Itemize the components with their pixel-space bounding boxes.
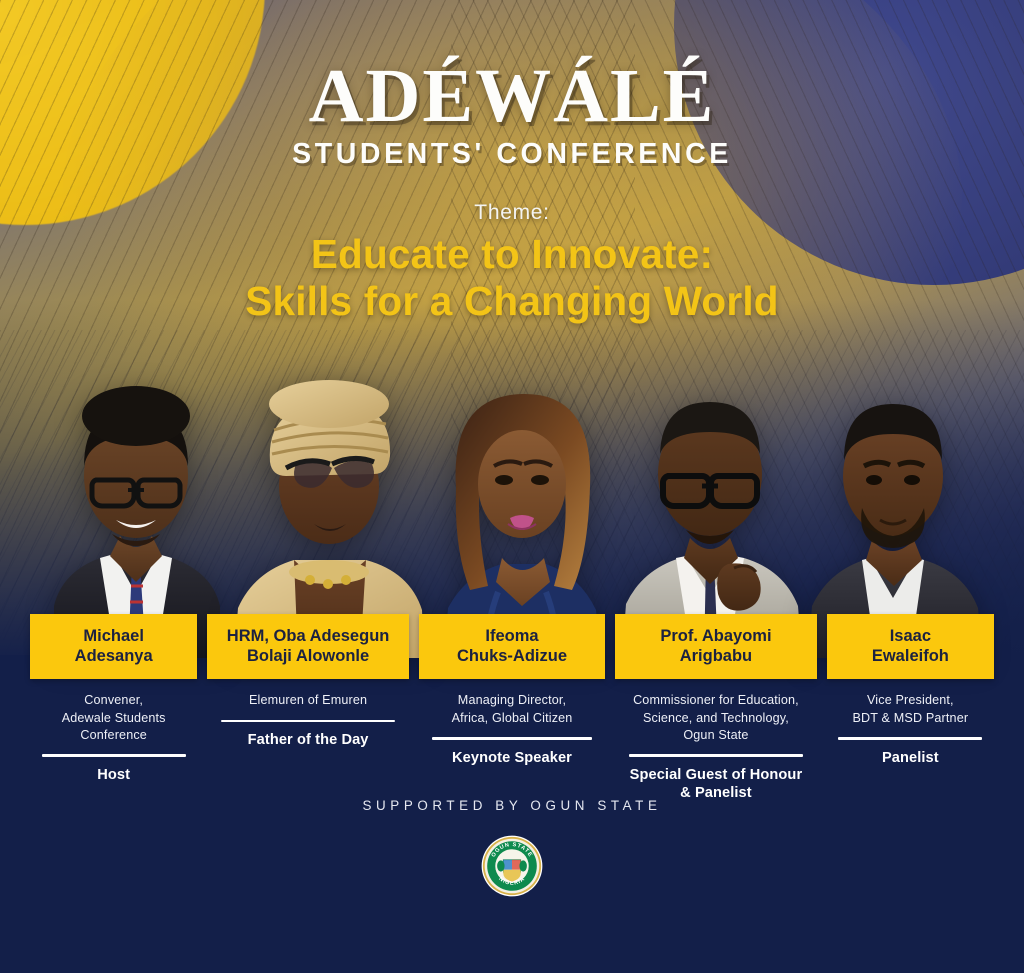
speaker-card-1: Michael Adesanya Convener, Adewale Stude…	[30, 614, 197, 784]
speaker-details-2: Elemuren of Emuren Father of the Day	[207, 679, 409, 749]
speaker-tag-line1-4: Special Guest of Honour	[615, 766, 817, 784]
divider-rule-5	[838, 737, 982, 740]
speaker-name-line1-2: HRM, Oba Adesegun	[227, 627, 390, 645]
theme-line-1: Educate to Innovate:	[0, 231, 1024, 278]
speaker-tag-4: Special Guest of Honour & Panelist	[615, 766, 817, 802]
speaker-tag-3: Keynote Speaker	[419, 749, 605, 767]
speaker-cards: Michael Adesanya Convener, Adewale Stude…	[0, 614, 1024, 802]
portrait-isaac-ewaleifoh	[798, 358, 988, 658]
speaker-card-2: HRM, Oba Adesegun Bolaji Alowonle Elemur…	[207, 614, 409, 749]
speaker-name-line1-4: Prof. Abayomi	[660, 627, 771, 645]
speaker-role-3: Managing Director, Africa, Global Citize…	[419, 692, 605, 727]
speaker-card-3: Ifeoma Chuks-Adizue Managing Director, A…	[419, 614, 605, 767]
speaker-name-line1-3: Ifeoma	[485, 627, 538, 645]
conference-flyer: ADÉWÁLÉ STUDENTS' CONFERENCE Theme: Educ…	[0, 0, 1024, 973]
speaker-name-plate-4: Prof. Abayomi Arigbabu	[615, 614, 817, 679]
speaker-role-2: Elemuren of Emuren	[207, 692, 409, 709]
speaker-role-line2-4: Science, and Technology,	[615, 710, 817, 727]
speaker-role-1: Convener, Adewale Students Conference	[30, 692, 197, 744]
speaker-role-line3-4: Ogun State	[615, 727, 817, 744]
speaker-name-plate-5: Isaac Ewaleifoh	[827, 614, 994, 679]
speaker-role-line1-4: Commissioner for Education,	[615, 692, 817, 709]
speaker-tag-line1-2: Father of the Day	[207, 731, 409, 749]
speaker-details-4: Commissioner for Education, Science, and…	[615, 679, 817, 802]
speaker-tag-5: Panelist	[827, 749, 994, 767]
speaker-portraits	[0, 358, 1024, 658]
speaker-name-line2-2: Bolaji Alowonle	[247, 647, 369, 665]
speaker-name-line2-3: Chuks-Adizue	[457, 647, 567, 665]
speaker-name-line2-5: Ewaleifoh	[872, 647, 949, 665]
speaker-details-3: Managing Director, Africa, Global Citize…	[419, 679, 605, 767]
speaker-name-line2-1: Adesanya	[75, 647, 153, 665]
flyer-header: ADÉWÁLÉ STUDENTS' CONFERENCE Theme: Educ…	[0, 62, 1024, 326]
speaker-name-plate-3: Ifeoma Chuks-Adizue	[419, 614, 605, 679]
divider-rule-2	[221, 720, 394, 723]
event-title: ADÉWÁLÉ	[0, 62, 1024, 132]
portrait-ifeoma-chuks-adizue	[422, 358, 622, 658]
speaker-tag-line1-3: Keynote Speaker	[419, 749, 605, 767]
speaker-tag-line1-5: Panelist	[827, 749, 994, 767]
event-subtitle: STUDENTS' CONFERENCE	[0, 138, 1024, 171]
speaker-role-line2-5: BDT & MSD Partner	[827, 710, 994, 727]
speaker-role-line1-3: Managing Director,	[419, 692, 605, 709]
divider-rule-4	[629, 754, 802, 757]
speaker-name-line1-1: Michael	[83, 627, 144, 645]
speaker-role-line2-1: Adewale Students Conference	[30, 710, 197, 745]
theme-label: Theme:	[0, 201, 1024, 225]
theme-headline: Educate to Innovate: Skills for a Changi…	[0, 231, 1024, 326]
speaker-name-line2-4: Arigbabu	[680, 647, 752, 665]
speaker-tag-2: Father of the Day	[207, 731, 409, 749]
theme-line-2: Skills for a Changing World	[0, 278, 1024, 325]
speaker-role-4: Commissioner for Education, Science, and…	[615, 692, 817, 744]
speaker-name-plate-2: HRM, Oba Adesegun Bolaji Alowonle	[207, 614, 409, 679]
speaker-role-line1-1: Convener,	[30, 692, 197, 709]
speaker-details-1: Convener, Adewale Students Conference Ho…	[30, 679, 197, 784]
speaker-role-line1-2: Elemuren of Emuren	[207, 692, 409, 709]
speaker-details-5: Vice President, BDT & MSD Partner Paneli…	[827, 679, 994, 767]
portrait-prof-abayomi-arigbabu	[610, 358, 810, 658]
divider-rule-1	[42, 754, 186, 757]
seal-container: OGUN STATE NIGERIA	[0, 835, 1024, 897]
divider-rule-3	[432, 737, 592, 740]
speaker-card-4: Prof. Abayomi Arigbabu Commissioner for …	[615, 614, 817, 802]
portrait-oba-adesegun-bolaji-alowonle	[224, 358, 434, 658]
speaker-card-5: Isaac Ewaleifoh Vice President, BDT & MS…	[827, 614, 994, 767]
supported-by-text: SUPPORTED BY OGUN STATE	[0, 798, 1024, 813]
flyer-footer: SUPPORTED BY OGUN STATE OGUN STATE NIGER…	[0, 798, 1024, 897]
speaker-role-5: Vice President, BDT & MSD Partner	[827, 692, 994, 727]
ogun-state-seal-icon: OGUN STATE NIGERIA	[481, 835, 543, 897]
speaker-tag-line1-1: Host	[30, 766, 197, 784]
speaker-name-line1-5: Isaac	[890, 627, 931, 645]
speaker-role-line1-5: Vice President,	[827, 692, 994, 709]
portrait-michael-adesanya	[36, 358, 236, 658]
speaker-role-line2-3: Africa, Global Citizen	[419, 710, 605, 727]
speaker-tag-1: Host	[30, 766, 197, 784]
speaker-name-plate-1: Michael Adesanya	[30, 614, 197, 679]
